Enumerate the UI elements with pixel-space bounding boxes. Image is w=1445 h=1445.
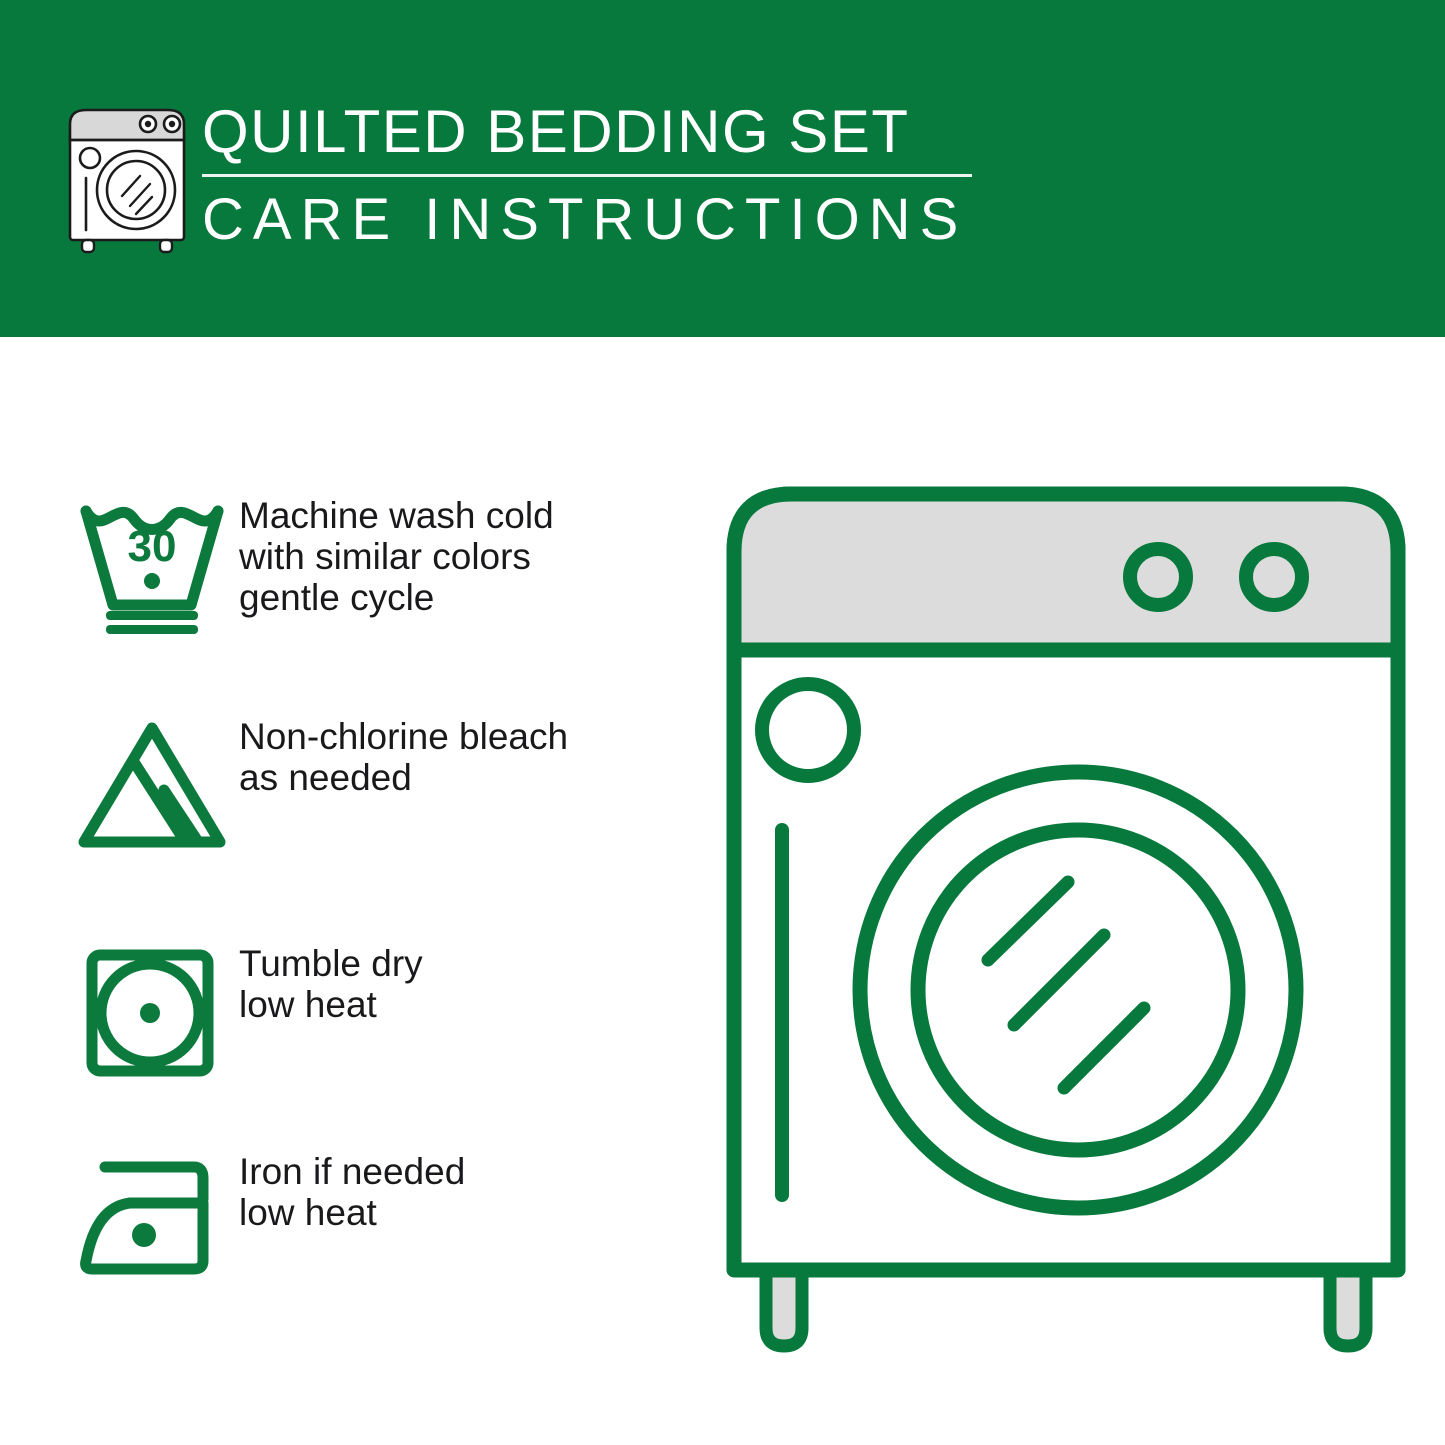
title-divider <box>202 174 972 177</box>
washer-knob-right <box>1246 549 1302 605</box>
care-row-machine-wash: 30 Machine wash cold with similar colors… <box>64 489 684 639</box>
washer-legs <box>766 1270 1366 1346</box>
non-chlorine-bleach-triangle-icon <box>64 710 239 860</box>
washer-dial <box>762 684 854 776</box>
care-text-bleach: Non-chlorine bleach as needed <box>239 710 568 798</box>
washing-machine-icon <box>62 102 192 254</box>
page-title: QUILTED BEDDING SET <box>202 96 992 168</box>
care-text-tumble-dry: Tumble dry low heat <box>239 937 423 1025</box>
care-line: Non-chlorine bleach <box>239 716 568 757</box>
care-line: Tumble dry <box>239 943 423 984</box>
care-line: with similar colors <box>239 536 554 577</box>
page-subtitle: CARE INSTRUCTIONS <box>202 187 992 253</box>
care-instruction-list: 30 Machine wash cold with similar colors… <box>0 337 700 1445</box>
care-text-machine-wash: Machine wash cold with similar colors ge… <box>239 489 554 618</box>
care-line: gentle cycle <box>239 577 554 618</box>
washer-knob-left <box>1130 549 1186 605</box>
header-title-block: QUILTED BEDDING SET CARE INSTRUCTIONS <box>202 96 992 253</box>
wash-tub-30-gentle-icon: 30 <box>64 489 239 639</box>
care-line: Machine wash cold <box>239 495 554 536</box>
washer-door-inner <box>918 830 1238 1150</box>
tumble-dry-low-icon <box>64 937 239 1087</box>
care-line: Iron if needed <box>239 1151 465 1192</box>
care-row-bleach: Non-chlorine bleach as needed <box>64 710 684 860</box>
front-load-washing-machine-illustration <box>726 480 1406 1360</box>
care-instructions-page: QUILTED BEDDING SET CARE INSTRUCTIONS 30 <box>0 0 1445 1445</box>
care-row-tumble-dry: Tumble dry low heat <box>64 937 684 1087</box>
care-line: low heat <box>239 984 423 1025</box>
wash-temperature-value: 30 <box>128 522 177 571</box>
header-banner: QUILTED BEDDING SET CARE INSTRUCTIONS <box>0 0 1445 337</box>
care-text-iron: Iron if needed low heat <box>239 1145 465 1233</box>
care-line: as needed <box>239 757 568 798</box>
iron-low-heat-icon <box>64 1145 239 1295</box>
care-row-iron: Iron if needed low heat <box>64 1145 684 1295</box>
care-line: low heat <box>239 1192 465 1233</box>
